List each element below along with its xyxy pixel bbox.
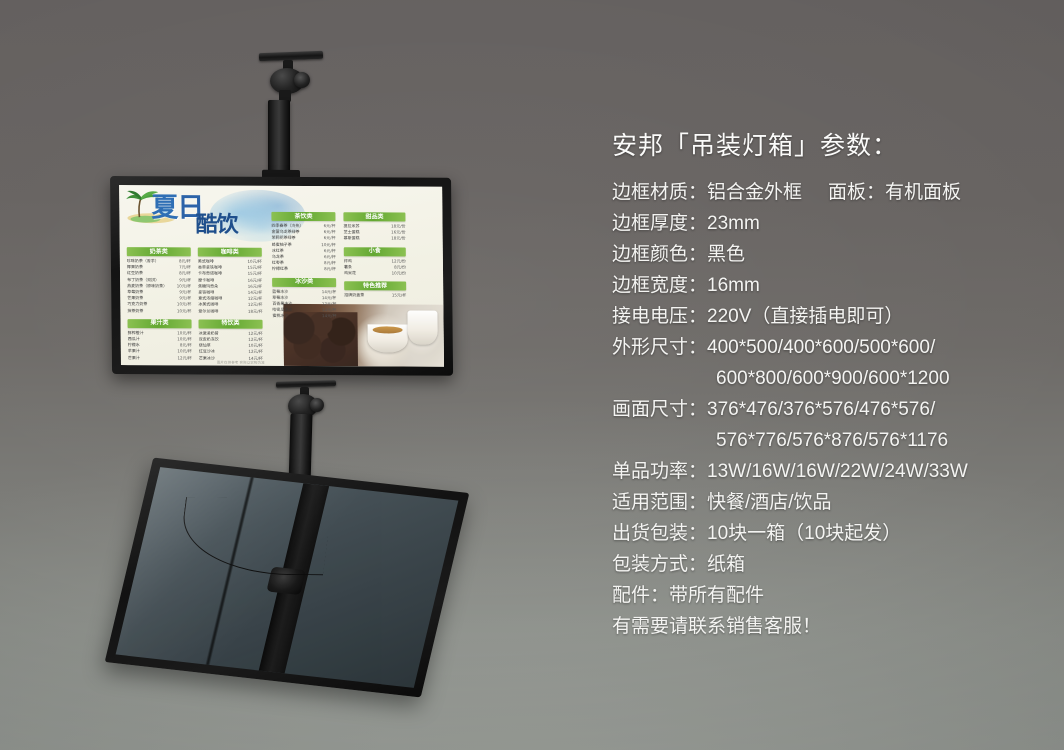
spec-line: 单品功率：13W/16W/16W/22W/24W/33W (612, 456, 1052, 487)
menu-section-header: 甜品类 (343, 212, 405, 221)
coffee-crema (372, 326, 402, 333)
menu-section-header: 果汁类 (127, 319, 191, 328)
spec-line: 576*776/576*876/576*1176 (612, 425, 1052, 456)
menu-item-price: 10元/份 (388, 270, 407, 276)
menu-item-price: 18元/杯 (244, 308, 263, 314)
hero-char-1: 夏 (151, 192, 177, 223)
menu-section-header: 特饮类 (199, 319, 263, 328)
menu-item-name: 慕斯蛋糕 (344, 236, 360, 242)
menu-section-title: 特饮类 (222, 321, 240, 327)
spec-line: 画面尺寸：376*476/376*576/476*576/ (612, 394, 1052, 425)
menu-section-header: 冰沙类 (272, 277, 336, 286)
menu-item-name: 柠檬红茶 (272, 266, 288, 272)
menu-item-price: 8元/杯 (320, 267, 336, 273)
spec-line: 600*800/600*900/600*1200 (612, 363, 1052, 394)
menu-section-header: 咖啡类 (198, 247, 262, 256)
spec-line: 边框厚度：23mm (612, 208, 1052, 239)
spec-line: 边框颜色：黑色 (612, 239, 1052, 270)
product-spec-image: 夏日 酷饮 奶茶类珍珠奶茶（香芋）8元/杯椰果奶茶7元/杯红豆奶茶8元/杯布丁奶… (0, 0, 1064, 750)
menu-item-price: 14元/杯 (318, 314, 337, 320)
menu-item-name: 芒果汁 (128, 355, 140, 361)
menu-section-spacer (344, 299, 406, 304)
spec-line: 配件：带所有配件 (612, 580, 1052, 611)
menu-section-header: 茶饮类 (271, 212, 335, 221)
menu-artwork: 夏日 酷饮 奶茶类珍珠奶茶（香芋）8元/杯椰果奶茶7元/杯红豆奶茶8元/杯布丁奶… (119, 185, 444, 367)
menu-section-title: 咖啡类 (221, 249, 239, 255)
spec-line: 出货包装：10块一箱（10块起发） (612, 518, 1052, 549)
menu-credit-text: 图片仅供参考 实际以实物为准 (217, 360, 265, 365)
menu-item-name: 芒果冰沙 (199, 355, 215, 361)
lightbox-front-unit: 夏日 酷饮 奶茶类珍珠奶茶（香芋）8元/杯椰果奶茶7元/杯红豆奶茶8元/杯布丁奶… (110, 176, 453, 376)
menu-hero-subtitle: 酷饮 (195, 214, 237, 236)
coffee-cup-tall-icon (407, 311, 437, 345)
menu-section-title: 果汁类 (151, 321, 169, 327)
spec-line: 接电电压：220V（直接插电即可） (612, 301, 1052, 332)
menu-item-name: 抹茶奶茶 (127, 308, 143, 314)
menu-item-name: 鸡米花 (344, 270, 356, 276)
menu-section-header: 奶茶类 (127, 247, 191, 256)
menu-section-header: 特色推荐 (344, 281, 406, 290)
lightbox-back-unit (105, 458, 470, 698)
menu-section-title: 茶饮类 (294, 213, 312, 219)
pivot-knob-icon-2 (310, 398, 324, 412)
menu-column: 甜品类提拉米苏18元/份芝士蛋糕16元/份慕斯蛋糕18元/份小食炸鸡12元/份薯… (343, 212, 406, 304)
spec-line-list: 边框材质：铝合金外框面板：有机面板边框厚度：23mm边框颜色：黑色边框宽度：16… (612, 177, 1052, 642)
menu-item-price: 15元/杯 (388, 293, 407, 299)
specification-panel: 安邦「吊装灯箱」参数： 边框材质：铝合金外框面板：有机面板边框厚度：23mm边框… (612, 126, 1052, 642)
menu-column: 茶饮类四季春茶（冷热）6元/杯金萱乌龙茶绿茶6元/杯茉莉花茶绿茶6元/杯蜂蜜柚子… (271, 212, 336, 325)
pivot-knob-icon (294, 72, 310, 88)
menu-section-spacer (273, 319, 337, 324)
menu-item-price: 10元/杯 (173, 308, 192, 314)
lightbox-menu-panel: 夏日 酷饮 奶茶类珍珠奶茶（香芋）8元/杯椰果奶茶7元/杯红豆奶茶8元/杯布丁奶… (119, 185, 444, 367)
menu-item-name: 爱尔兰咖啡 (198, 308, 218, 314)
coffee-cup-icon (368, 324, 408, 352)
spec-line: 包装方式：纸箱 (612, 549, 1052, 580)
menu-section-title: 特色推荐 (363, 283, 387, 289)
spec-title: 安邦「吊装灯箱」参数： (612, 126, 1052, 166)
menu-section-header: 小食 (344, 247, 406, 256)
menu-section-title: 冰沙类 (295, 279, 313, 285)
spec-extra: 面板：有机面板 (828, 182, 961, 203)
menu-item-price: 12元/杯 (173, 355, 192, 361)
spec-line: 有需要请联系销售客服！ (612, 611, 1052, 642)
menu-section-title: 奶茶类 (150, 249, 168, 255)
menu-item-name: 蜜桃冰沙 (272, 313, 288, 319)
menu-column: 奶茶类珍珠奶茶（香芋）8元/杯椰果奶茶7元/杯红豆奶茶8元/杯布丁奶茶（双拼）9… (127, 247, 192, 366)
spec-line: 边框宽度：16mm (612, 270, 1052, 301)
menu-item-price: 18元/份 (387, 236, 406, 242)
spec-line: 外形尺寸：400*500/400*600/500*600/ (612, 332, 1052, 363)
spec-line: 边框材质：铝合金外框面板：有机面板 (612, 177, 1052, 208)
menu-column: 咖啡类美式咖啡10元/杯香草拿铁咖啡15元/杯卡布奇诺咖啡15元/杯摩卡咖啡16… (198, 247, 263, 366)
panel-gloss (116, 467, 459, 688)
menu-item-name: 招牌奶盖茶 (344, 292, 364, 298)
menu-section-title: 小食 (369, 248, 381, 254)
menu-section-title: 甜品类 (365, 214, 383, 220)
spec-line: 适用范围：快餐/酒店/饮品 (612, 487, 1052, 518)
